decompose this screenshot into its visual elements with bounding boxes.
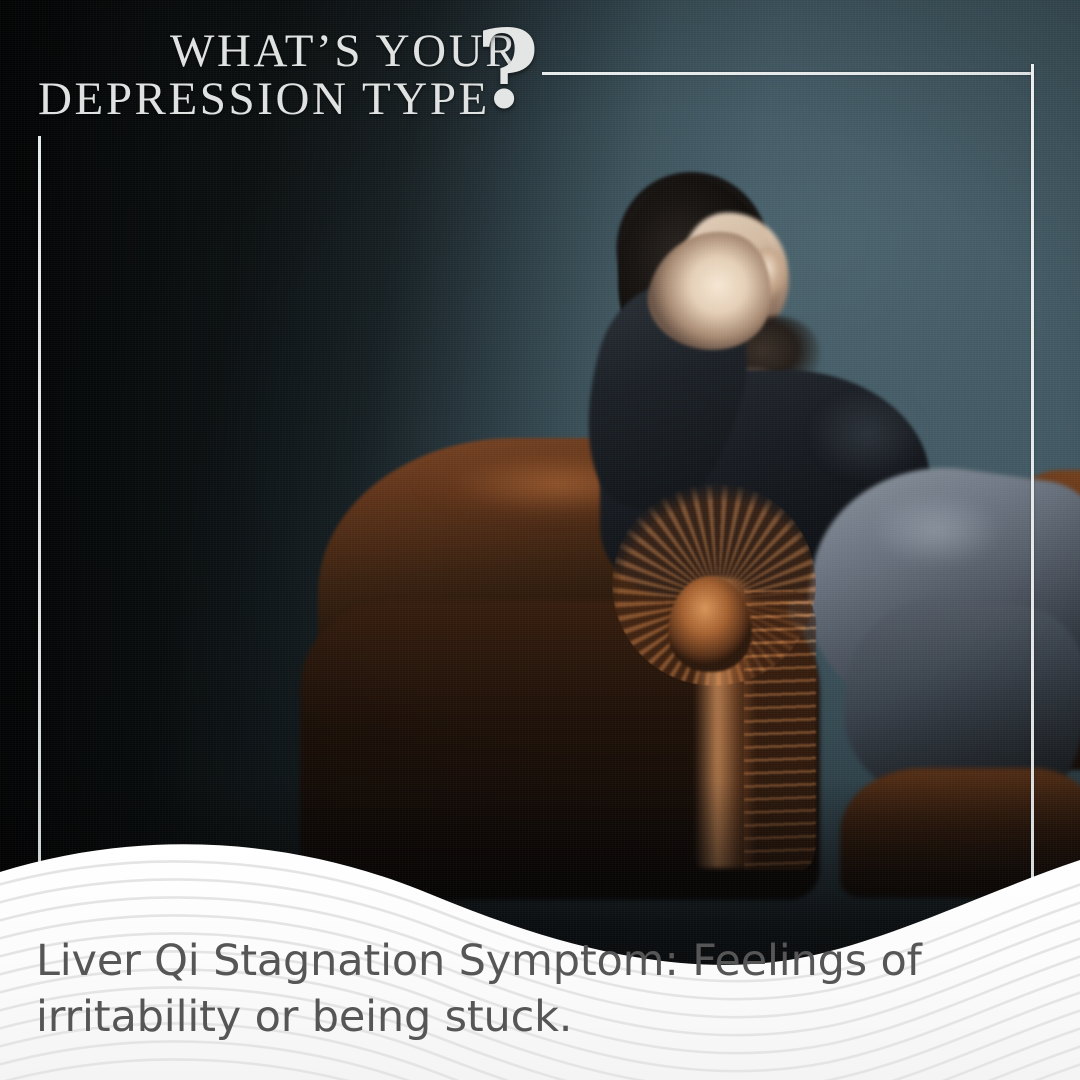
vertical-rule-right: [1031, 64, 1034, 924]
social-post-canvas: WHAT’S YOUR DEPRESSION TYPE ?: [0, 0, 1080, 1080]
caption-text: Liver Qi Stagnation Symptom: Feelings of…: [36, 934, 966, 1046]
vertical-rule-left: [38, 136, 41, 866]
horizontal-rule-top: [542, 72, 1034, 75]
